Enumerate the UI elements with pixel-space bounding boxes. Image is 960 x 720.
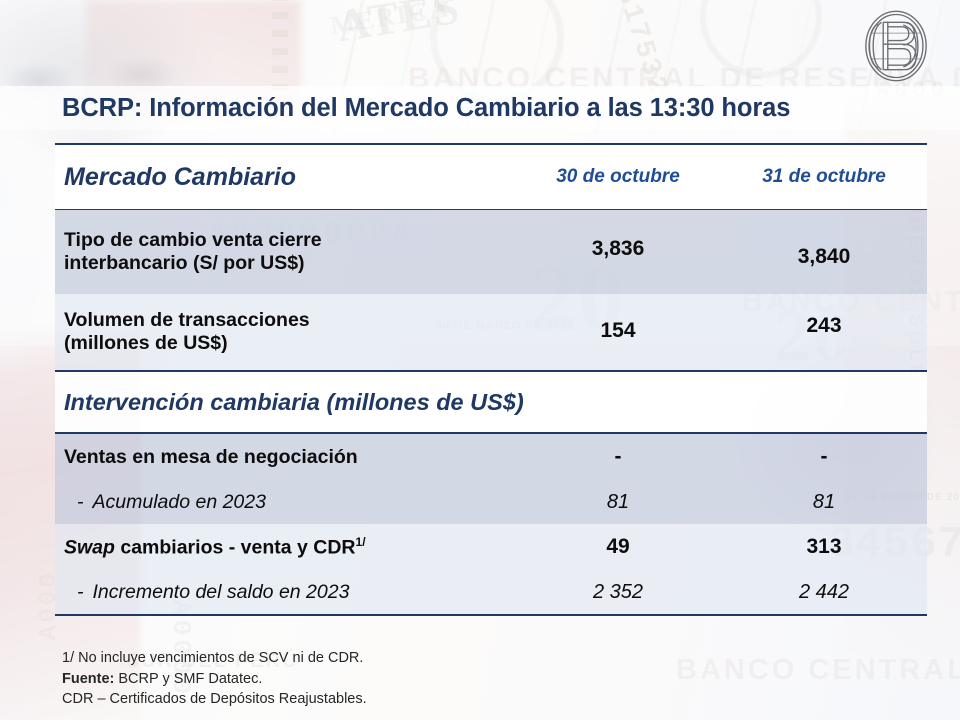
row-label-line-2: (millones de US$) — [64, 332, 515, 355]
row-label-tipo-de-cambio: Tipo de cambio venta cierre interbancari… — [55, 210, 515, 295]
cell-acumulado-30-oct: 81 — [515, 480, 721, 524]
cell-ventas-mesa-31-oct: - — [721, 433, 927, 480]
column-header-date-1: 30 de octubre — [515, 144, 721, 210]
footnote-line-3: CDR – Certificados de Depósitos Reajusta… — [62, 689, 367, 710]
table-row-incremento-saldo: -Incremento del saldo en 2023 2 352 2 44… — [55, 570, 927, 615]
table-row-acumulado-2023: -Acumulado en 2023 81 81 — [55, 480, 927, 524]
section-title-intervencion-cambiaria: Intervención cambiaria (millones de US$) — [55, 371, 927, 433]
row-label-line-2: interbancario (S/ por US$) — [64, 252, 515, 275]
cell-incremento-30-oct: 2 352 — [515, 570, 721, 615]
row-label-text: Acumulado en 2023 — [93, 491, 266, 513]
cell-incremento-31-oct: 2 442 — [721, 570, 927, 615]
column-header-date-2: 31 de octubre — [721, 144, 927, 210]
footnote-source-label: Fuente: — [62, 671, 114, 687]
exchange-market-table: Mercado Cambiario 30 de octubre 31 de oc… — [55, 143, 927, 616]
footnote-source-value: BCRP y SMF Datatec. — [114, 671, 262, 687]
cell-volumen-30-oct: 154 — [515, 294, 721, 371]
cell-acumulado-31-oct: 81 — [721, 480, 927, 524]
footnote-line-2: Fuente: BCRP y SMF Datatec. — [62, 669, 367, 690]
row-label-swap-emphasis: Swap — [64, 536, 115, 558]
row-label-line-1: Tipo de cambio venta cierre — [64, 229, 515, 252]
table-header-row-mercado: Mercado Cambiario 30 de octubre 31 de oc… — [55, 144, 927, 210]
bcrp-monogram-logo — [850, 4, 942, 88]
row-label-swap-cambiarios: Swap cambiarios - venta y CDR1/ — [55, 524, 515, 570]
page-title: BCRP: Información del Mercado Cambiario … — [62, 94, 790, 123]
footnotes-block: 1/ No incluye vencimientos de SCV ni de … — [62, 648, 367, 710]
row-label-acumulado-2023: -Acumulado en 2023 — [55, 480, 515, 524]
row-label-dash: - — [77, 581, 84, 603]
section-title-mercado-cambiario: Mercado Cambiario — [55, 144, 515, 210]
row-label-ventas-mesa: Ventas en mesa de negociación — [55, 433, 515, 480]
table-section-row-intervencion: Intervención cambiaria (millones de US$) — [55, 371, 927, 433]
cell-volumen-31-oct: 243 — [721, 294, 927, 371]
data-table-wrapper: Mercado Cambiario 30 de octubre 31 de oc… — [55, 143, 927, 616]
footnote-line-1: 1/ No incluye vencimientos de SCV ni de … — [62, 648, 367, 669]
row-label-text: Incremento del saldo en 2023 — [93, 581, 350, 603]
row-label-volumen: Volumen de transacciones (millones de US… — [55, 294, 515, 371]
row-label-line-1: Volumen de transacciones — [64, 309, 515, 332]
cell-swap-30-oct: 49 — [515, 524, 721, 570]
cell-tipo-de-cambio-30-oct: 3,836 — [515, 210, 721, 295]
row-label-dash: - — [77, 491, 84, 513]
cell-ventas-mesa-30-oct: - — [515, 433, 721, 480]
table-row-ventas-mesa: Ventas en mesa de negociación - - — [55, 433, 927, 480]
cell-tipo-de-cambio-31-oct: 3,840 — [721, 210, 927, 295]
footnote-marker: 1/ — [356, 535, 366, 549]
table-row-swap-cambiarios: Swap cambiarios - venta y CDR1/ 49 313 — [55, 524, 927, 570]
cell-swap-31-oct: 313 — [721, 524, 927, 570]
row-label-text: cambiarios - venta y CDR — [115, 536, 356, 558]
table-row-volumen: Volumen de transacciones (millones de US… — [55, 294, 927, 371]
slide-root: ATES MERICA 51817532 BANCO CENTRAL DE RE… — [0, 0, 960, 720]
row-label-incremento-saldo: -Incremento del saldo en 2023 — [55, 570, 515, 615]
table-row-tipo-de-cambio: Tipo de cambio venta cierre interbancari… — [55, 210, 927, 295]
